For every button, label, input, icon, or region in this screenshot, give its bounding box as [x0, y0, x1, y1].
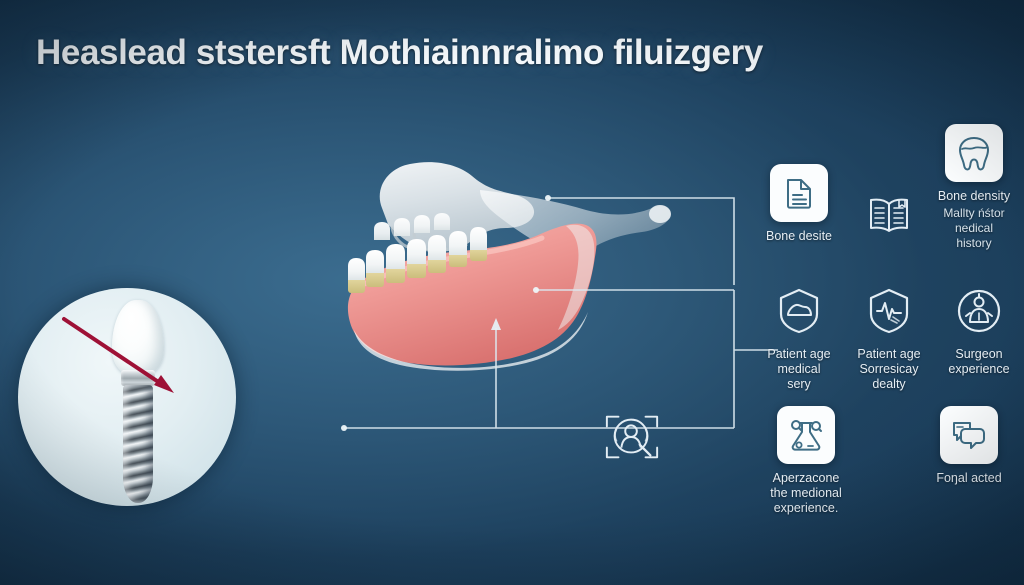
page-title: Heaslead ststersft Mothiainnralimo filui… — [36, 33, 836, 73]
node-label: Bone desite — [756, 229, 842, 244]
connector-lines — [300, 140, 780, 480]
bone-shield-icon-wrap[interactable] — [770, 282, 828, 340]
open-book-icon — [866, 195, 912, 235]
heartbeat-shield-icon — [865, 287, 913, 335]
node-label: Bone density — [928, 189, 1020, 204]
bone-shield-icon — [775, 287, 823, 335]
node-feedback[interactable]: Foŋal acted — [926, 406, 1012, 486]
node-bone-density[interactable]: Bone density Mallty ńśtor nedical histor… — [928, 124, 1020, 251]
patient-scan-icon — [603, 409, 661, 465]
implant-pointer-arrow — [58, 313, 188, 403]
node-label: Surgeon experience — [936, 347, 1022, 377]
dental-implant-closeup — [18, 288, 236, 506]
flask-molecule-icon-tile[interactable] — [777, 406, 835, 464]
tooth-icon-tile[interactable] — [945, 124, 1003, 182]
flask-molecule-icon — [788, 417, 824, 453]
surgeon-badge-icon — [955, 287, 1003, 335]
chat-bubbles-icon-tile[interactable] — [940, 406, 998, 464]
node-book[interactable] — [846, 186, 932, 251]
open-book-icon-wrap[interactable] — [860, 186, 918, 244]
tooth-icon — [957, 135, 991, 171]
patient-scan-icon-wrap[interactable] — [603, 408, 661, 466]
node-patient-scan[interactable] — [596, 408, 668, 473]
node-label: Aperzacone the medional experience. — [760, 471, 852, 516]
node-sublabel: Mallty ńśtor nedical history — [928, 206, 1020, 251]
heartbeat-shield-icon-wrap[interactable] — [860, 282, 918, 340]
node-label: Patient age Sorresicay dealty — [846, 347, 932, 392]
node-label: Foŋal acted — [926, 471, 1012, 486]
node-label: Patient age medical sery — [756, 347, 842, 392]
node-patient-age-quality[interactable]: Patient age Sorresicay dealty — [846, 282, 932, 392]
document-icon-tile[interactable] — [770, 164, 828, 222]
surgeon-badge-icon-wrap[interactable] — [950, 282, 1008, 340]
infographic-canvas: Heaslead ststersft Mothiainnralimo filui… — [0, 0, 1024, 585]
node-patient-age-medical[interactable]: Patient age medical sery — [756, 282, 842, 392]
node-bone-desite[interactable]: Bone desite — [756, 164, 842, 244]
node-surgeon-experience[interactable]: Surgeon experience — [936, 282, 1022, 377]
node-research[interactable]: Aperzacone the medional experience. — [760, 406, 852, 516]
chat-bubbles-icon — [951, 419, 987, 451]
document-icon — [782, 176, 816, 210]
